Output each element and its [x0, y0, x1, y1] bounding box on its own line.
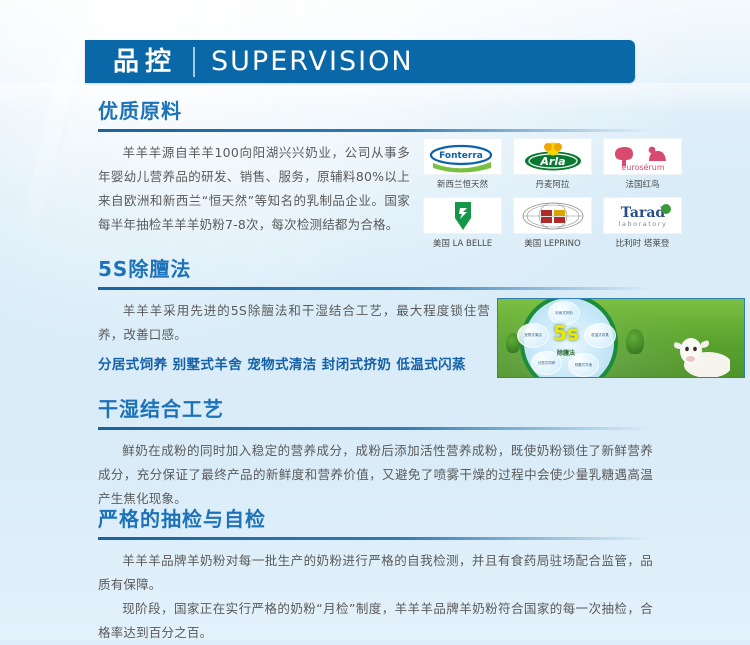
- section-body-strict-inspection-2: 现阶段，国家正在实行严格的奶粉“月检”制度，羊羊羊品牌羊奶粉符合国家的每一次抽检…: [98, 597, 653, 645]
- five-s-illustration: 封闭式挤奶 低温式闪蒸 别墅式羊舍 分居式饲养 宠物式清洁 5s 除膻法: [497, 298, 745, 378]
- svg-text:eurosérum: eurosérum: [621, 162, 664, 172]
- section-body-text: 羊羊羊采用先进的5S除膻法和干湿结合工艺，最大程度锁住营养，改善口感。: [98, 303, 490, 342]
- logo-image-fonterra: Fonterra: [423, 138, 502, 175]
- header-title-en: SUPERVISION: [195, 46, 414, 77]
- section-rule: [98, 427, 650, 430]
- section-rule: [98, 129, 650, 132]
- partner-caption: 丹麦阿拉: [513, 178, 592, 190]
- partner-caption: 美国 LEPRINO: [513, 237, 592, 249]
- header-divider: [193, 47, 195, 77]
- partner-caption: 新西兰恒天然: [423, 178, 502, 190]
- partner-logo-row: Fonterra 新西兰恒天然 Arla 丹麦阿拉: [423, 138, 683, 190]
- section-body-wet-dry-process: 鲜奶在成粉的同时加入稳定的营养成分，成粉后添加活性营养成粉，既使奶粉锁住了新鲜营…: [98, 439, 653, 511]
- five-s-number: 5s: [553, 321, 579, 345]
- section-body-premium-materials: 羊羊羊源自羊羊100向阳湖兴兴奶业，公司从事多年婴幼儿营养品的研发、销售、服务，…: [98, 141, 410, 237]
- section-body-text: 羊羊羊品牌羊奶粉对每一批生产的奶粉进行严格的自我检测，并且有食药局驻场配合监管，…: [98, 553, 653, 592]
- logo-image-euroserum: eurosérum: [603, 138, 682, 175]
- page-content: 优质原料 羊羊羊源自羊羊100向阳湖兴兴奶业，公司从事多年婴幼儿营养品的研发、销…: [0, 0, 750, 640]
- partner-logo-labelle: 美国 LA BELLE: [423, 197, 502, 249]
- section-title-strict-inspection: 严格的抽检与自检: [98, 508, 653, 530]
- svg-text:Tarad: Tarad: [620, 205, 665, 221]
- svg-text:laboratory: laboratory: [618, 220, 667, 228]
- section-title-five-s-method: 5S除膻法: [98, 258, 650, 280]
- goat-photo: [674, 327, 730, 377]
- five-s-bubble: 宠物式清洁: [517, 323, 549, 348]
- section-rule: [98, 537, 650, 540]
- logo-image-arla: Arla: [513, 138, 592, 175]
- taradon-icon: Tarad laboratory: [606, 200, 680, 232]
- leprino-icon: [517, 200, 589, 232]
- partner-logo-leprino: 美国 LEPRINO: [513, 197, 592, 249]
- logo-image-taradon: Tarad laboratory: [603, 197, 682, 234]
- fonterra-icon: Fonterra: [427, 141, 499, 173]
- section-body-text: 羊羊羊源自羊羊100向阳湖兴兴奶业，公司从事多年婴幼儿营养品的研发、销售、服务，…: [98, 145, 410, 232]
- logo-image-labelle: [423, 197, 502, 234]
- section-title-wet-dry-process: 干湿结合工艺: [98, 398, 653, 420]
- partner-logo-arla: Arla 丹麦阿拉: [513, 138, 592, 190]
- section-strict-inspection: 严格的抽检与自检 羊羊羊品牌羊奶粉对每一批生产的奶粉进行严格的自我检测，并且有食…: [98, 508, 653, 645]
- partner-logo-grid: Fonterra 新西兰恒天然 Arla 丹麦阿拉: [423, 138, 683, 256]
- section-body-text: 现阶段，国家正在实行严格的奶粉“月检”制度，羊羊羊品牌羊奶粉符合国家的每一次抽检…: [98, 601, 653, 640]
- partner-caption: 比利时 塔莱登: [603, 237, 682, 249]
- euroserum-icon: eurosérum: [607, 141, 679, 173]
- partner-logo-euroserum: eurosérum 法国红鸟: [603, 138, 682, 190]
- section-title-premium-materials: 优质原料: [98, 100, 408, 122]
- partner-caption: 美国 LA BELLE: [423, 237, 502, 249]
- section-body-text: 鲜奶在成粉的同时加入稳定的营养成分，成粉后添加活性营养成粉，既使奶粉锁住了新鲜营…: [98, 443, 653, 506]
- svg-text:Arla: Arla: [539, 155, 565, 168]
- header-title-cn: 品控: [85, 49, 193, 75]
- partner-logo-row: 美国 LA BELLE 美国 LEPRINO: [423, 197, 683, 249]
- arla-icon: Arla: [517, 141, 589, 173]
- partner-logo-fonterra: Fonterra 新西兰恒天然: [423, 138, 502, 190]
- section-premium-materials: 优质原料 羊羊羊源自羊羊100向阳湖兴兴奶业，公司从事多年婴幼儿营养品的研发、销…: [98, 100, 408, 237]
- five-s-bubble: 低温式闪蒸: [584, 323, 616, 348]
- partner-caption: 法国红鸟: [603, 178, 682, 190]
- section-body-strict-inspection-1: 羊羊羊品牌羊奶粉对每一批生产的奶粉进行严格的自我检测，并且有食药局驻场配合监管，…: [98, 549, 653, 597]
- five-s-center-label: 5s 除膻法: [546, 323, 586, 364]
- section-wet-dry-process: 干湿结合工艺 鲜奶在成粉的同时加入稳定的营养成分，成粉后添加活性营养成粉，既使奶…: [98, 398, 653, 511]
- logo-image-leprino: [513, 197, 592, 234]
- five-s-sublabel: 除膻法: [546, 344, 586, 364]
- partner-logo-taradon: Tarad laboratory 比利时 塔莱登: [603, 197, 682, 249]
- svg-text:Fonterra: Fonterra: [439, 151, 483, 161]
- page-header-bar: 品控 SUPERVISION: [85, 40, 635, 83]
- section-rule: [98, 287, 650, 290]
- section-body-five-s-method: 羊羊羊采用先进的5S除膻法和干湿结合工艺，最大程度锁住营养，改善口感。: [98, 299, 490, 347]
- la-belle-icon: [427, 200, 499, 232]
- tree-icon: [626, 329, 644, 354]
